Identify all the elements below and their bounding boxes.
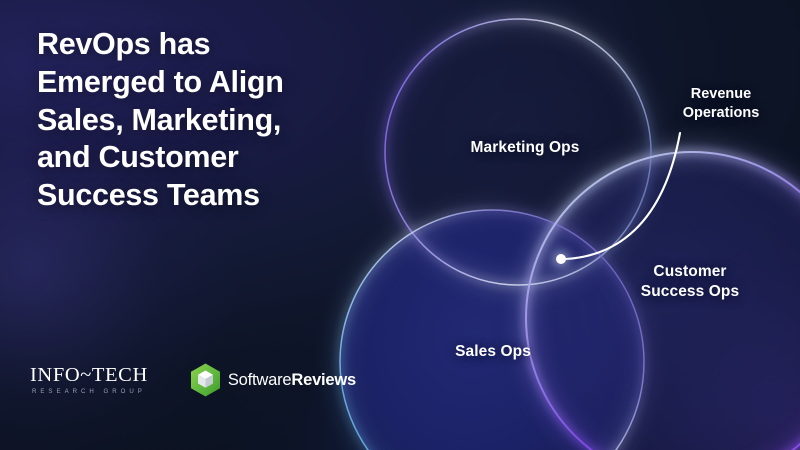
software-reviews-cube-icon <box>190 363 221 397</box>
venn-label-marketing-ops: Marketing Ops <box>420 138 630 158</box>
venn-label-customer-success-ops: Customer Success Ops <box>607 262 773 302</box>
software-reviews-wordmark: SoftwareReviews <box>228 371 356 390</box>
callout-label-revenue-operations: Revenue Operations <box>655 85 787 123</box>
info-tech-wordmark: INFO~TECH <box>30 365 148 386</box>
logo-bar: INFO~TECH RESEARCH GROUP Softw <box>30 358 356 402</box>
info-tech-tagline: RESEARCH GROUP <box>32 389 146 395</box>
slide-canvas: RevOps has Emerged to Align Sales, Marke… <box>0 0 800 450</box>
info-tech-logo: INFO~TECH RESEARCH GROUP <box>30 365 148 396</box>
venn-label-sales-ops: Sales Ops <box>400 342 586 362</box>
page-title: RevOps has Emerged to Align Sales, Marke… <box>37 26 367 215</box>
callout-dot <box>556 254 566 264</box>
software-reviews-word-light: Software <box>228 371 292 389</box>
software-reviews-logo: SoftwareReviews <box>190 363 356 397</box>
software-reviews-word-bold: Reviews <box>291 371 356 389</box>
